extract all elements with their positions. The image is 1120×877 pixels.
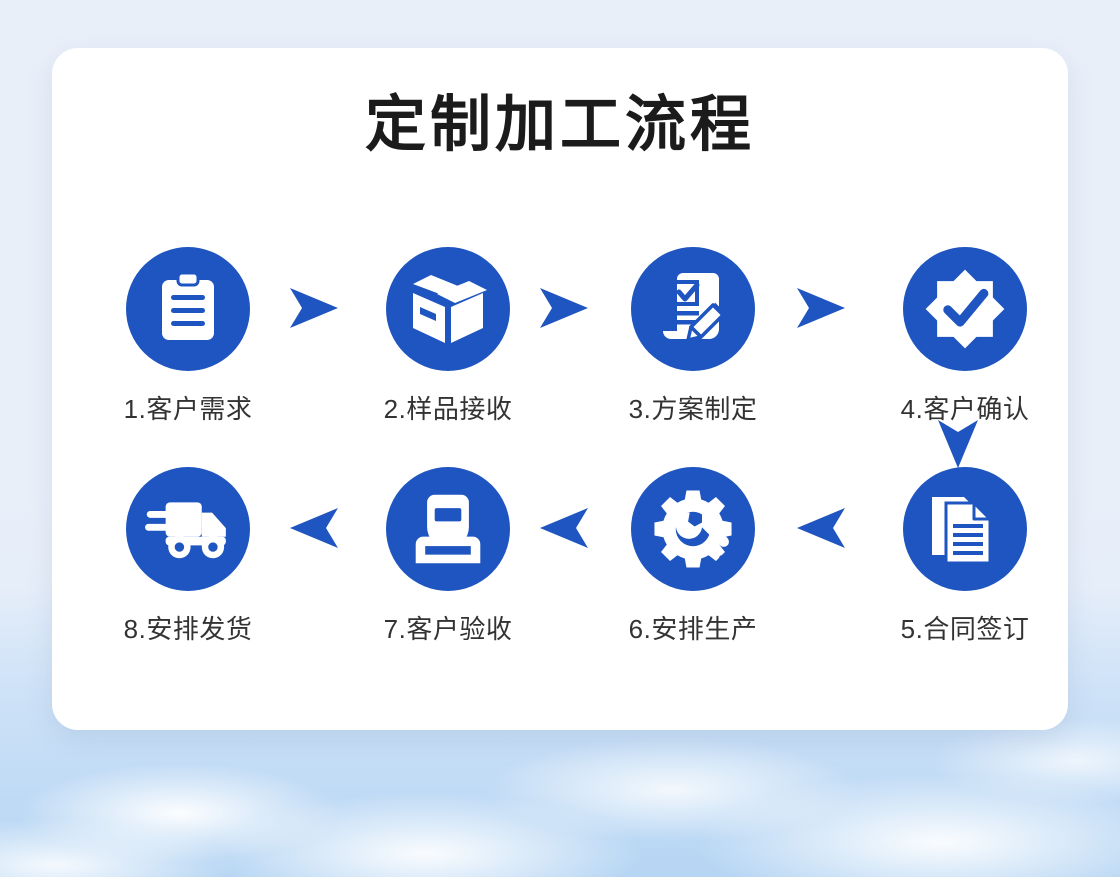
step-2-icon-circle bbox=[386, 247, 510, 371]
flow-step-5[interactable]: 5.合同签订 bbox=[870, 467, 1060, 646]
delivery-truck-icon bbox=[145, 495, 231, 563]
flow-step-8[interactable]: 8.安排发货 bbox=[93, 467, 283, 646]
badge-check-icon bbox=[924, 268, 1006, 350]
step-5-label: 5.合同签订 bbox=[870, 609, 1060, 646]
gear-wrench-icon bbox=[652, 488, 734, 570]
step-8-label: 8.安排发货 bbox=[93, 609, 283, 646]
document-pencil-icon bbox=[655, 271, 731, 347]
flow-step-3[interactable]: 3.方案制定 bbox=[598, 247, 788, 426]
step-2-label: 2.样品接收 bbox=[353, 389, 543, 426]
step-7-label: 7.客户验收 bbox=[353, 609, 543, 646]
step-5-icon-circle bbox=[903, 467, 1027, 591]
step-1-icon-circle bbox=[126, 247, 250, 371]
step-4-icon-circle bbox=[903, 247, 1027, 371]
flow-step-7[interactable]: 7.客户验收 bbox=[353, 467, 543, 646]
clipboard-icon bbox=[153, 273, 223, 345]
arrow-3-to-4 bbox=[795, 285, 847, 331]
worker-helmet-icon bbox=[410, 491, 486, 567]
arrow-5-to-6 bbox=[795, 505, 847, 551]
arrow-1-to-2 bbox=[288, 285, 340, 331]
step-6-icon-circle bbox=[631, 467, 755, 591]
flow-step-2[interactable]: 2.样品接收 bbox=[353, 247, 543, 426]
arrow-6-to-7 bbox=[538, 505, 590, 551]
step-8-icon-circle bbox=[126, 467, 250, 591]
package-box-icon bbox=[409, 271, 487, 347]
step-3-icon-circle bbox=[631, 247, 755, 371]
step-3-label: 3.方案制定 bbox=[598, 389, 788, 426]
arrow-2-to-3 bbox=[538, 285, 590, 331]
flow-step-6[interactable]: 6.安排生产 bbox=[598, 467, 788, 646]
arrow-7-to-8 bbox=[288, 505, 340, 551]
page-title: 定制加工流程 bbox=[0, 94, 1120, 155]
step-6-label: 6.安排生产 bbox=[598, 609, 788, 646]
flow-step-1[interactable]: 1.客户需求 bbox=[93, 247, 283, 426]
documents-stack-icon bbox=[928, 491, 1002, 567]
step-1-label: 1.客户需求 bbox=[93, 389, 283, 426]
flow-step-4[interactable]: 4.客户确认 bbox=[870, 247, 1060, 426]
arrow-4-to-5 bbox=[935, 418, 981, 470]
worker-helmet-icon-circle bbox=[386, 467, 510, 591]
